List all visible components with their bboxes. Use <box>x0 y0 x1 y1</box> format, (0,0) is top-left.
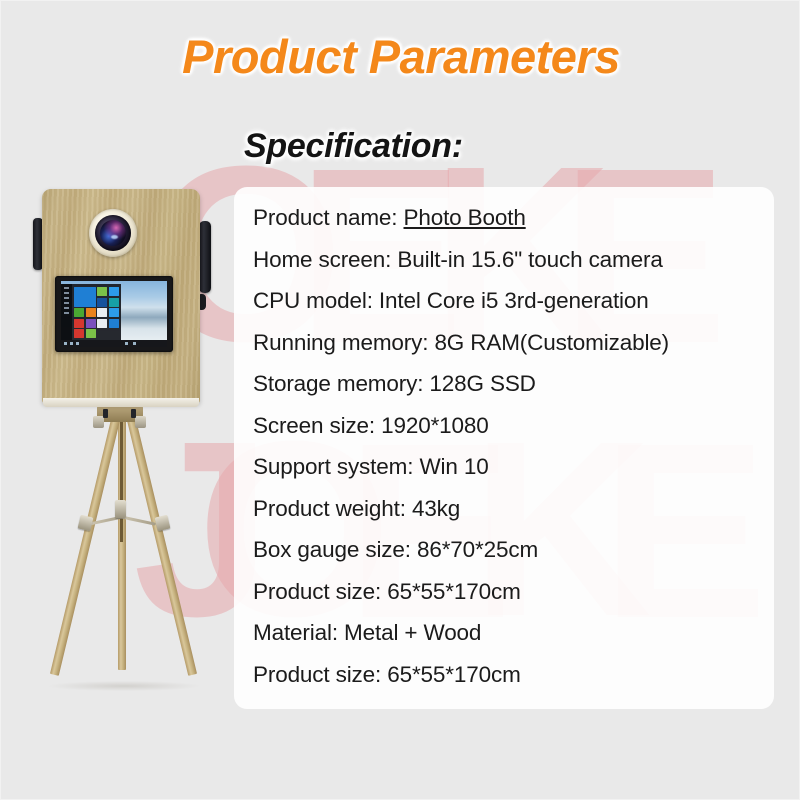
spec-value: Intel Core i5 3rd-generation <box>379 288 649 313</box>
spec-label: Material: <box>253 620 338 645</box>
product-parameters-page: O E K E J O E K E Product Parameters Spe… <box>0 0 800 800</box>
tile[interactable] <box>74 308 84 317</box>
tile[interactable] <box>97 298 107 307</box>
spec-label: Box gauge size: <box>253 537 411 562</box>
windows-start-menu[interactable] <box>61 284 121 340</box>
tripod-leg-right <box>127 419 197 676</box>
spec-value: 43kg <box>412 496 460 521</box>
spec-row: Product size: 65*55*170cm <box>253 654 781 696</box>
spec-value: 1920*1080 <box>381 413 489 438</box>
camera-lens-glass <box>100 220 126 246</box>
tile[interactable] <box>109 308 119 317</box>
tile[interactable] <box>109 298 119 307</box>
camera-lens-icon <box>89 209 137 257</box>
taskbar-icon[interactable] <box>70 342 73 345</box>
tile[interactable] <box>97 319 107 328</box>
windows-taskbar[interactable] <box>61 340 167 347</box>
spec-value: Built-in 15.6" touch camera <box>397 247 662 272</box>
touch-screen-display[interactable] <box>61 281 167 347</box>
specification-heading: Specification: <box>244 127 463 166</box>
tile[interactable] <box>86 308 96 317</box>
spec-row: Product weight: 43kg <box>253 488 781 530</box>
spec-value: 65*55*170cm <box>387 579 520 604</box>
spec-row: Home screen: Built-in 15.6" touch camera <box>253 239 781 281</box>
specification-list: Product name: Photo Booth Home screen: B… <box>253 197 781 695</box>
spec-label: Storage memory: <box>253 371 423 396</box>
spec-label: Running memory: <box>253 330 428 355</box>
taskbar-icon[interactable] <box>125 342 128 345</box>
tripod-clamp-right <box>155 515 171 532</box>
spec-label: CPU model: <box>253 288 373 313</box>
spec-label: Product name: <box>253 205 397 230</box>
floor-shadow <box>49 681 199 691</box>
spec-value: Win 10 <box>419 454 488 479</box>
spec-label: Product weight: <box>253 496 406 521</box>
tripod-leg-left <box>50 419 120 676</box>
camera-lens-highlight <box>111 235 118 239</box>
booth-bottom-edge <box>43 398 199 407</box>
spec-row: Product name: Photo Booth <box>253 197 781 239</box>
tile[interactable] <box>74 319 84 328</box>
tile[interactable] <box>74 287 96 307</box>
start-menu-tiles[interactable] <box>72 284 121 340</box>
tripod-head-bolt <box>131 409 136 418</box>
spec-label: Support system: <box>253 454 413 479</box>
spec-row: Product size: 65*55*170cm <box>253 571 781 613</box>
tile[interactable] <box>74 329 84 338</box>
spec-value: 8G RAM(Customizable) <box>434 330 669 355</box>
spec-row: Material: Metal + Wood <box>253 612 781 654</box>
spec-value: 65*55*170cm <box>387 662 520 687</box>
spec-row: Box gauge size: 86*70*25cm <box>253 529 781 571</box>
spec-label: Product size: <box>253 662 381 687</box>
tripod-clamp-center <box>115 500 126 518</box>
tile[interactable] <box>97 308 107 317</box>
spec-value: 86*70*25cm <box>417 537 538 562</box>
tripod-head-clamp <box>135 416 146 428</box>
spec-row: CPU model: Intel Core i5 3rd-generation <box>253 280 781 322</box>
spec-label: Product size: <box>253 579 381 604</box>
camera-lens-barrel <box>95 215 131 251</box>
tripod-center-rod <box>120 422 123 542</box>
product-photo <box>19 176 234 701</box>
tripod-head-bolt <box>103 409 108 418</box>
tile[interactable] <box>86 329 96 338</box>
tile[interactable] <box>86 319 96 328</box>
tile[interactable] <box>109 319 119 328</box>
touch-screen-bezel[interactable] <box>55 276 173 352</box>
taskbar-icon[interactable] <box>133 342 136 345</box>
tile[interactable] <box>97 287 107 296</box>
spec-row: Storage memory: 128G SSD <box>253 363 781 405</box>
page-title: Product Parameters <box>1 29 800 84</box>
spec-row: Support system: Win 10 <box>253 446 781 488</box>
spec-label: Screen size: <box>253 413 375 438</box>
tile[interactable] <box>109 287 119 296</box>
booth-handle-right <box>199 221 211 293</box>
spec-label: Home screen: <box>253 247 391 272</box>
taskbar-icon[interactable] <box>64 342 67 345</box>
start-menu-rail <box>61 284 72 340</box>
spec-value: Photo Booth <box>404 205 526 230</box>
spec-value: 128G SSD <box>429 371 535 396</box>
taskbar-icon[interactable] <box>76 342 79 345</box>
spec-value: Metal + Wood <box>344 620 481 645</box>
tripod-head-clamp <box>93 416 104 428</box>
spec-row: Screen size: 1920*1080 <box>253 405 781 447</box>
spec-row: Running memory: 8G RAM(Customizable) <box>253 322 781 364</box>
